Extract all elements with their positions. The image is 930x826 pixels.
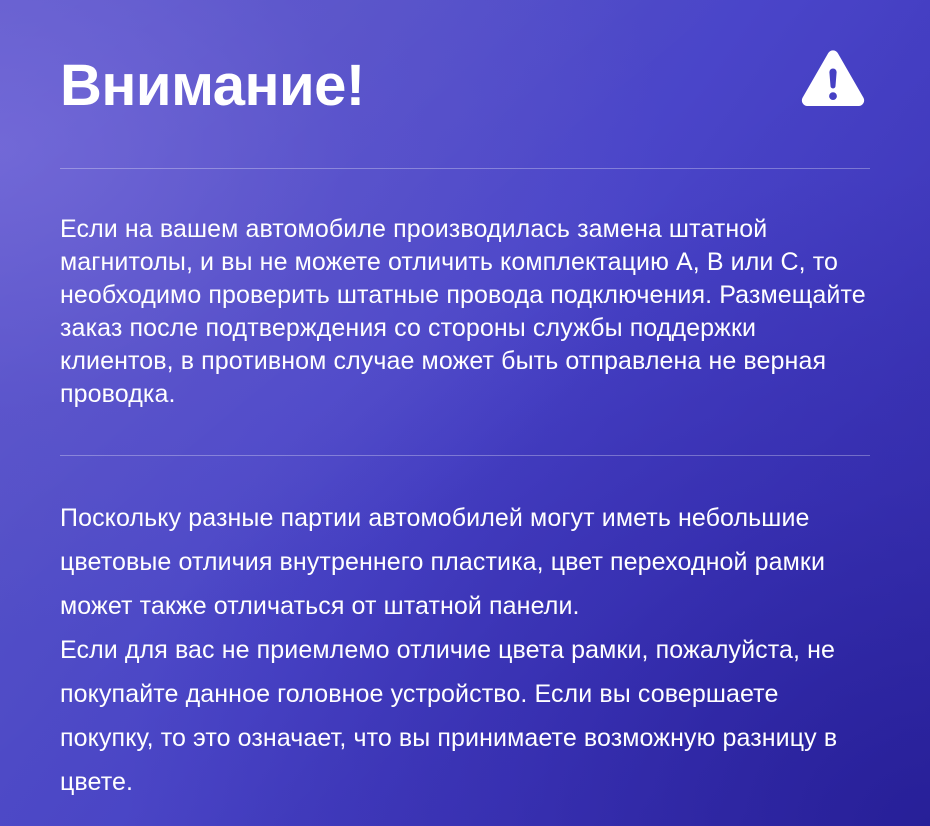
page-title: Внимание! xyxy=(60,57,365,115)
attention-notice-section: Если на вашем автомобиле производилась з… xyxy=(60,169,870,455)
color-difference-paragraph-1: Поскольку разные партии автомобилей могу… xyxy=(60,496,870,628)
attention-notice-paragraph: Если на вашем автомобиле производилась з… xyxy=(60,213,870,411)
banner-header: Внимание! xyxy=(60,0,870,168)
warning-triangle-icon xyxy=(800,49,866,111)
attention-banner: Внимание! Если на вашем автомобиле произ… xyxy=(0,0,930,826)
color-difference-notice-section: Поскольку разные партии автомобилей могу… xyxy=(60,456,870,826)
banner-content: Внимание! Если на вашем автомобиле произ… xyxy=(0,0,930,826)
color-difference-paragraph-2: Если для вас не приемлемо отличие цвета … xyxy=(60,628,870,804)
